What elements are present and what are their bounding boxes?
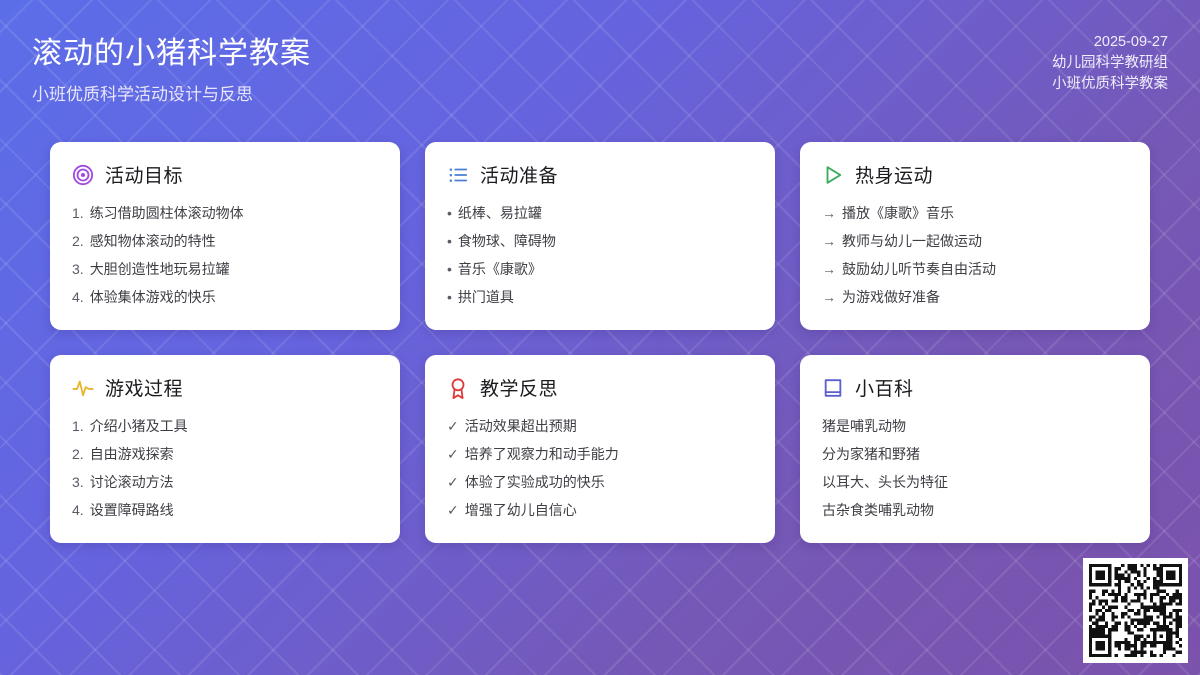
list-item: ✓体验了实验成功的快乐 [447,471,753,493]
list-item: ✓活动效果超出预期 [447,415,753,437]
card-title: 游戏过程 [105,374,183,401]
card-5[interactable]: 教学反思✓活动效果超出预期✓培养了观察力和动手能力✓体验了实验成功的快乐✓增强了… [425,355,775,543]
header: 滚动的小猪科学教案 小班优质科学活动设计与反思 2025-09-27 幼儿园科学… [0,0,1200,130]
list-marker: ✓ [447,471,459,493]
list-item-text: 增强了幼儿自信心 [465,499,577,521]
list-marker: → [822,286,836,308]
card-header: 游戏过程 [72,374,378,401]
card-item-list: •纸棒、易拉罐•食物球、障碍物•音乐《康歌》•拱门道具 [447,202,753,308]
award-icon [447,377,469,399]
list-item: 以耳大、头长为特征 [822,471,1128,493]
card-item-list: ✓活动效果超出预期✓培养了观察力和动手能力✓体验了实验成功的快乐✓增强了幼儿自信… [447,415,753,521]
card-item-list: 1.介绍小猪及工具2.自由游戏探索3.讨论滚动方法4.设置障碍路线 [72,415,378,521]
card-title: 活动准备 [480,161,558,188]
list-item: •食物球、障碍物 [447,230,753,252]
list-marker: 4. [72,286,84,308]
meta-date: 2025-09-27 [1052,32,1168,53]
card-4[interactable]: 游戏过程1.介绍小猪及工具2.自由游戏探索3.讨论滚动方法4.设置障碍路线 [50,355,400,543]
list-marker: 3. [72,471,84,493]
list-item-text: 分为家猪和野猪 [822,443,920,465]
list-item: 猪是哺乳动物 [822,415,1128,437]
card-item-list: →播放《康歌》音乐→教师与幼儿一起做运动→鼓励幼儿听节奏自由活动→为游戏做好准备 [822,202,1128,308]
list-marker: 2. [72,443,84,465]
list-item: •纸棒、易拉罐 [447,202,753,224]
header-meta: 2025-09-27 幼儿园科学教研组 小班优质科学教案 [1052,32,1168,95]
meta-category: 小班优质科学教案 [1052,74,1168,95]
list-item-text: 拱门道具 [458,286,514,308]
list-item: →播放《康歌》音乐 [822,202,1128,224]
list-item-text: 感知物体滚动的特性 [90,230,216,252]
list-item-text: 设置障碍路线 [90,499,174,521]
card-header: 活动准备 [447,161,753,188]
list-marker: ✓ [447,443,459,465]
list-item: •音乐《康歌》 [447,258,753,280]
list-item-text: 活动效果超出预期 [465,415,577,437]
list-item: →鼓励幼儿听节奏自由活动 [822,258,1128,280]
card-title: 教学反思 [480,374,558,401]
qr-code-image [1089,564,1182,657]
list-item: 古杂食类哺乳动物 [822,499,1128,521]
list-item: 1.练习借助圆柱体滚动物体 [72,202,378,224]
list-marker: 2. [72,230,84,252]
list-item-text: 体验集体游戏的快乐 [90,286,216,308]
card-1[interactable]: 活动目标1.练习借助圆柱体滚动物体2.感知物体滚动的特性3.大胆创造性地玩易拉罐… [50,142,400,330]
list-marker: 3. [72,258,84,280]
list-item: 4.设置障碍路线 [72,499,378,521]
card-header: 小百科 [822,374,1128,401]
list-item: 分为家猪和野猪 [822,443,1128,465]
list-item-text: 古杂食类哺乳动物 [822,499,934,521]
card-2[interactable]: 活动准备•纸棒、易拉罐•食物球、障碍物•音乐《康歌》•拱门道具 [425,142,775,330]
list-item-text: 大胆创造性地玩易拉罐 [90,258,230,280]
list-item: ✓增强了幼儿自信心 [447,499,753,521]
list-item-text: 鼓励幼儿听节奏自由活动 [842,258,996,280]
activity-pulse-icon [72,377,94,399]
qr-code[interactable] [1083,558,1188,663]
list-item: →教师与幼儿一起做运动 [822,230,1128,252]
list-item-text: 以耳大、头长为特征 [822,471,948,493]
list-item-text: 介绍小猪及工具 [90,415,188,437]
list-item-text: 食物球、障碍物 [458,230,556,252]
list-item-text: 教师与幼儿一起做运动 [842,230,982,252]
list-marker: • [447,230,452,252]
list-marker: → [822,258,836,280]
list-marker: ✓ [447,499,459,521]
list-item-text: 猪是哺乳动物 [822,415,906,437]
list-item-text: 练习借助圆柱体滚动物体 [90,202,244,224]
list-icon [447,164,469,186]
play-icon [822,164,844,186]
list-item: 4.体验集体游戏的快乐 [72,286,378,308]
list-item: 1.介绍小猪及工具 [72,415,378,437]
list-item-text: 讨论滚动方法 [90,471,174,493]
list-marker: 1. [72,415,84,437]
list-marker: • [447,286,452,308]
meta-org: 幼儿园科学教研组 [1052,53,1168,74]
list-marker: 4. [72,499,84,521]
page-subtitle: 小班优质科学活动设计与反思 [32,80,253,105]
page-title: 滚动的小猪科学教案 [32,28,311,72]
list-item: →为游戏做好准备 [822,286,1128,308]
list-item-text: 自由游戏探索 [90,443,174,465]
list-item-text: 体验了实验成功的快乐 [465,471,605,493]
list-item-text: 播放《康歌》音乐 [842,202,954,224]
list-marker: → [822,230,836,252]
list-item: 2.感知物体滚动的特性 [72,230,378,252]
list-item: 2.自由游戏探索 [72,443,378,465]
card-title: 活动目标 [105,161,183,188]
card-grid: 活动目标1.练习借助圆柱体滚动物体2.感知物体滚动的特性3.大胆创造性地玩易拉罐… [50,142,1150,543]
list-marker: → [822,202,836,224]
list-marker: ✓ [447,415,459,437]
card-header: 热身运动 [822,161,1128,188]
list-item: ✓培养了观察力和动手能力 [447,443,753,465]
target-icon [72,164,94,186]
list-marker: 1. [72,202,84,224]
list-marker: • [447,258,452,280]
list-item-text: 为游戏做好准备 [842,286,940,308]
list-item-text: 音乐《康歌》 [458,258,542,280]
list-item: •拱门道具 [447,286,753,308]
list-item: 3.讨论滚动方法 [72,471,378,493]
list-item: 3.大胆创造性地玩易拉罐 [72,258,378,280]
list-item-text: 培养了观察力和动手能力 [465,443,619,465]
card-title: 热身运动 [855,161,933,188]
card-header: 教学反思 [447,374,753,401]
book-icon [822,377,844,399]
list-item-text: 纸棒、易拉罐 [458,202,542,224]
card-3[interactable]: 热身运动→播放《康歌》音乐→教师与幼儿一起做运动→鼓励幼儿听节奏自由活动→为游戏… [800,142,1150,330]
card-title: 小百科 [855,374,914,401]
card-header: 活动目标 [72,161,378,188]
card-item-list: 1.练习借助圆柱体滚动物体2.感知物体滚动的特性3.大胆创造性地玩易拉罐4.体验… [72,202,378,308]
card-item-list: 猪是哺乳动物分为家猪和野猪以耳大、头长为特征古杂食类哺乳动物 [822,415,1128,521]
list-marker: • [447,202,452,224]
card-6[interactable]: 小百科猪是哺乳动物分为家猪和野猪以耳大、头长为特征古杂食类哺乳动物 [800,355,1150,543]
